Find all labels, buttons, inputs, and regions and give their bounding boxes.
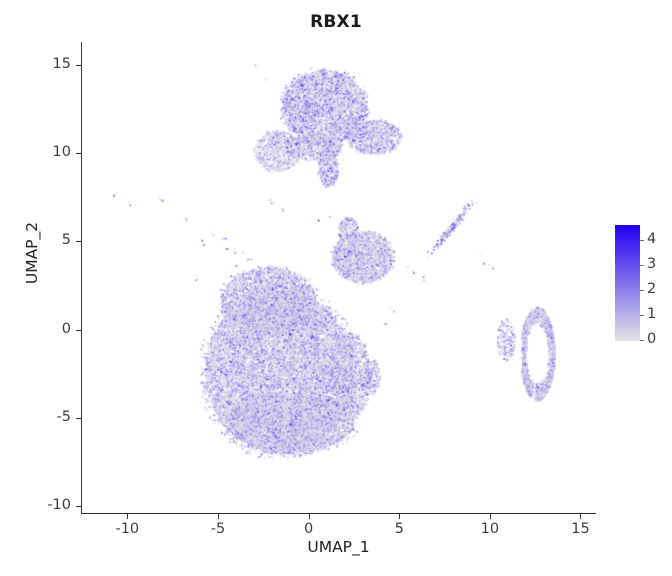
y-tick-label: -5 xyxy=(57,409,71,425)
x-tick-mark xyxy=(127,514,128,519)
colorbar-tick-label: 2 xyxy=(647,282,656,297)
y-tick-label: 0 xyxy=(62,321,71,337)
colorbar-tick-label: 3 xyxy=(647,257,656,272)
umap-scatter-canvas xyxy=(82,42,595,513)
x-tick-mark xyxy=(399,514,400,519)
colorbar-tick-label: 1 xyxy=(647,307,656,322)
colorbar-tick-mark xyxy=(640,240,644,241)
colorbar-tick-mark xyxy=(640,290,644,291)
x-tick-mark xyxy=(218,514,219,519)
y-tick-mark xyxy=(76,65,81,66)
x-tick-label: -10 xyxy=(87,521,167,537)
y-tick-label: 10 xyxy=(53,144,71,160)
y-tick-label: 15 xyxy=(53,56,71,72)
y-tick-label: 5 xyxy=(62,232,71,248)
colorbar-tick-mark xyxy=(640,315,644,316)
x-tick-label: -5 xyxy=(178,521,258,537)
y-tick-mark xyxy=(76,418,81,419)
y-tick-mark xyxy=(76,330,81,331)
colorbar-tick-label: 0 xyxy=(647,332,656,347)
x-tick-mark xyxy=(309,514,310,519)
x-axis-label: UMAP_1 xyxy=(82,538,595,556)
y-tick-mark xyxy=(76,153,81,154)
y-axis-line xyxy=(81,42,82,514)
x-tick-label: 15 xyxy=(540,521,620,537)
colorbar-gradient xyxy=(615,225,640,341)
x-tick-label: 10 xyxy=(450,521,530,537)
y-axis-label: UMAP_2 xyxy=(23,133,41,373)
x-axis-line xyxy=(81,513,596,514)
x-tick-mark xyxy=(490,514,491,519)
page-title: RBX1 xyxy=(0,12,672,32)
colorbar-tick-label: 4 xyxy=(647,232,656,247)
colorbar-tick-mark xyxy=(640,265,644,266)
x-tick-mark xyxy=(580,514,581,519)
y-tick-label: -10 xyxy=(47,497,71,513)
y-tick-mark xyxy=(76,506,81,507)
feature-plot-figure: RBX1 151050-5-10 -10-5051015 UMAP_1 UMAP… xyxy=(0,0,672,576)
colorbar-tick-mark xyxy=(640,340,644,341)
y-tick-mark xyxy=(76,241,81,242)
x-tick-label: 0 xyxy=(269,521,349,537)
colorbar-legend: 43210 xyxy=(615,225,671,341)
x-tick-label: 5 xyxy=(359,521,439,537)
